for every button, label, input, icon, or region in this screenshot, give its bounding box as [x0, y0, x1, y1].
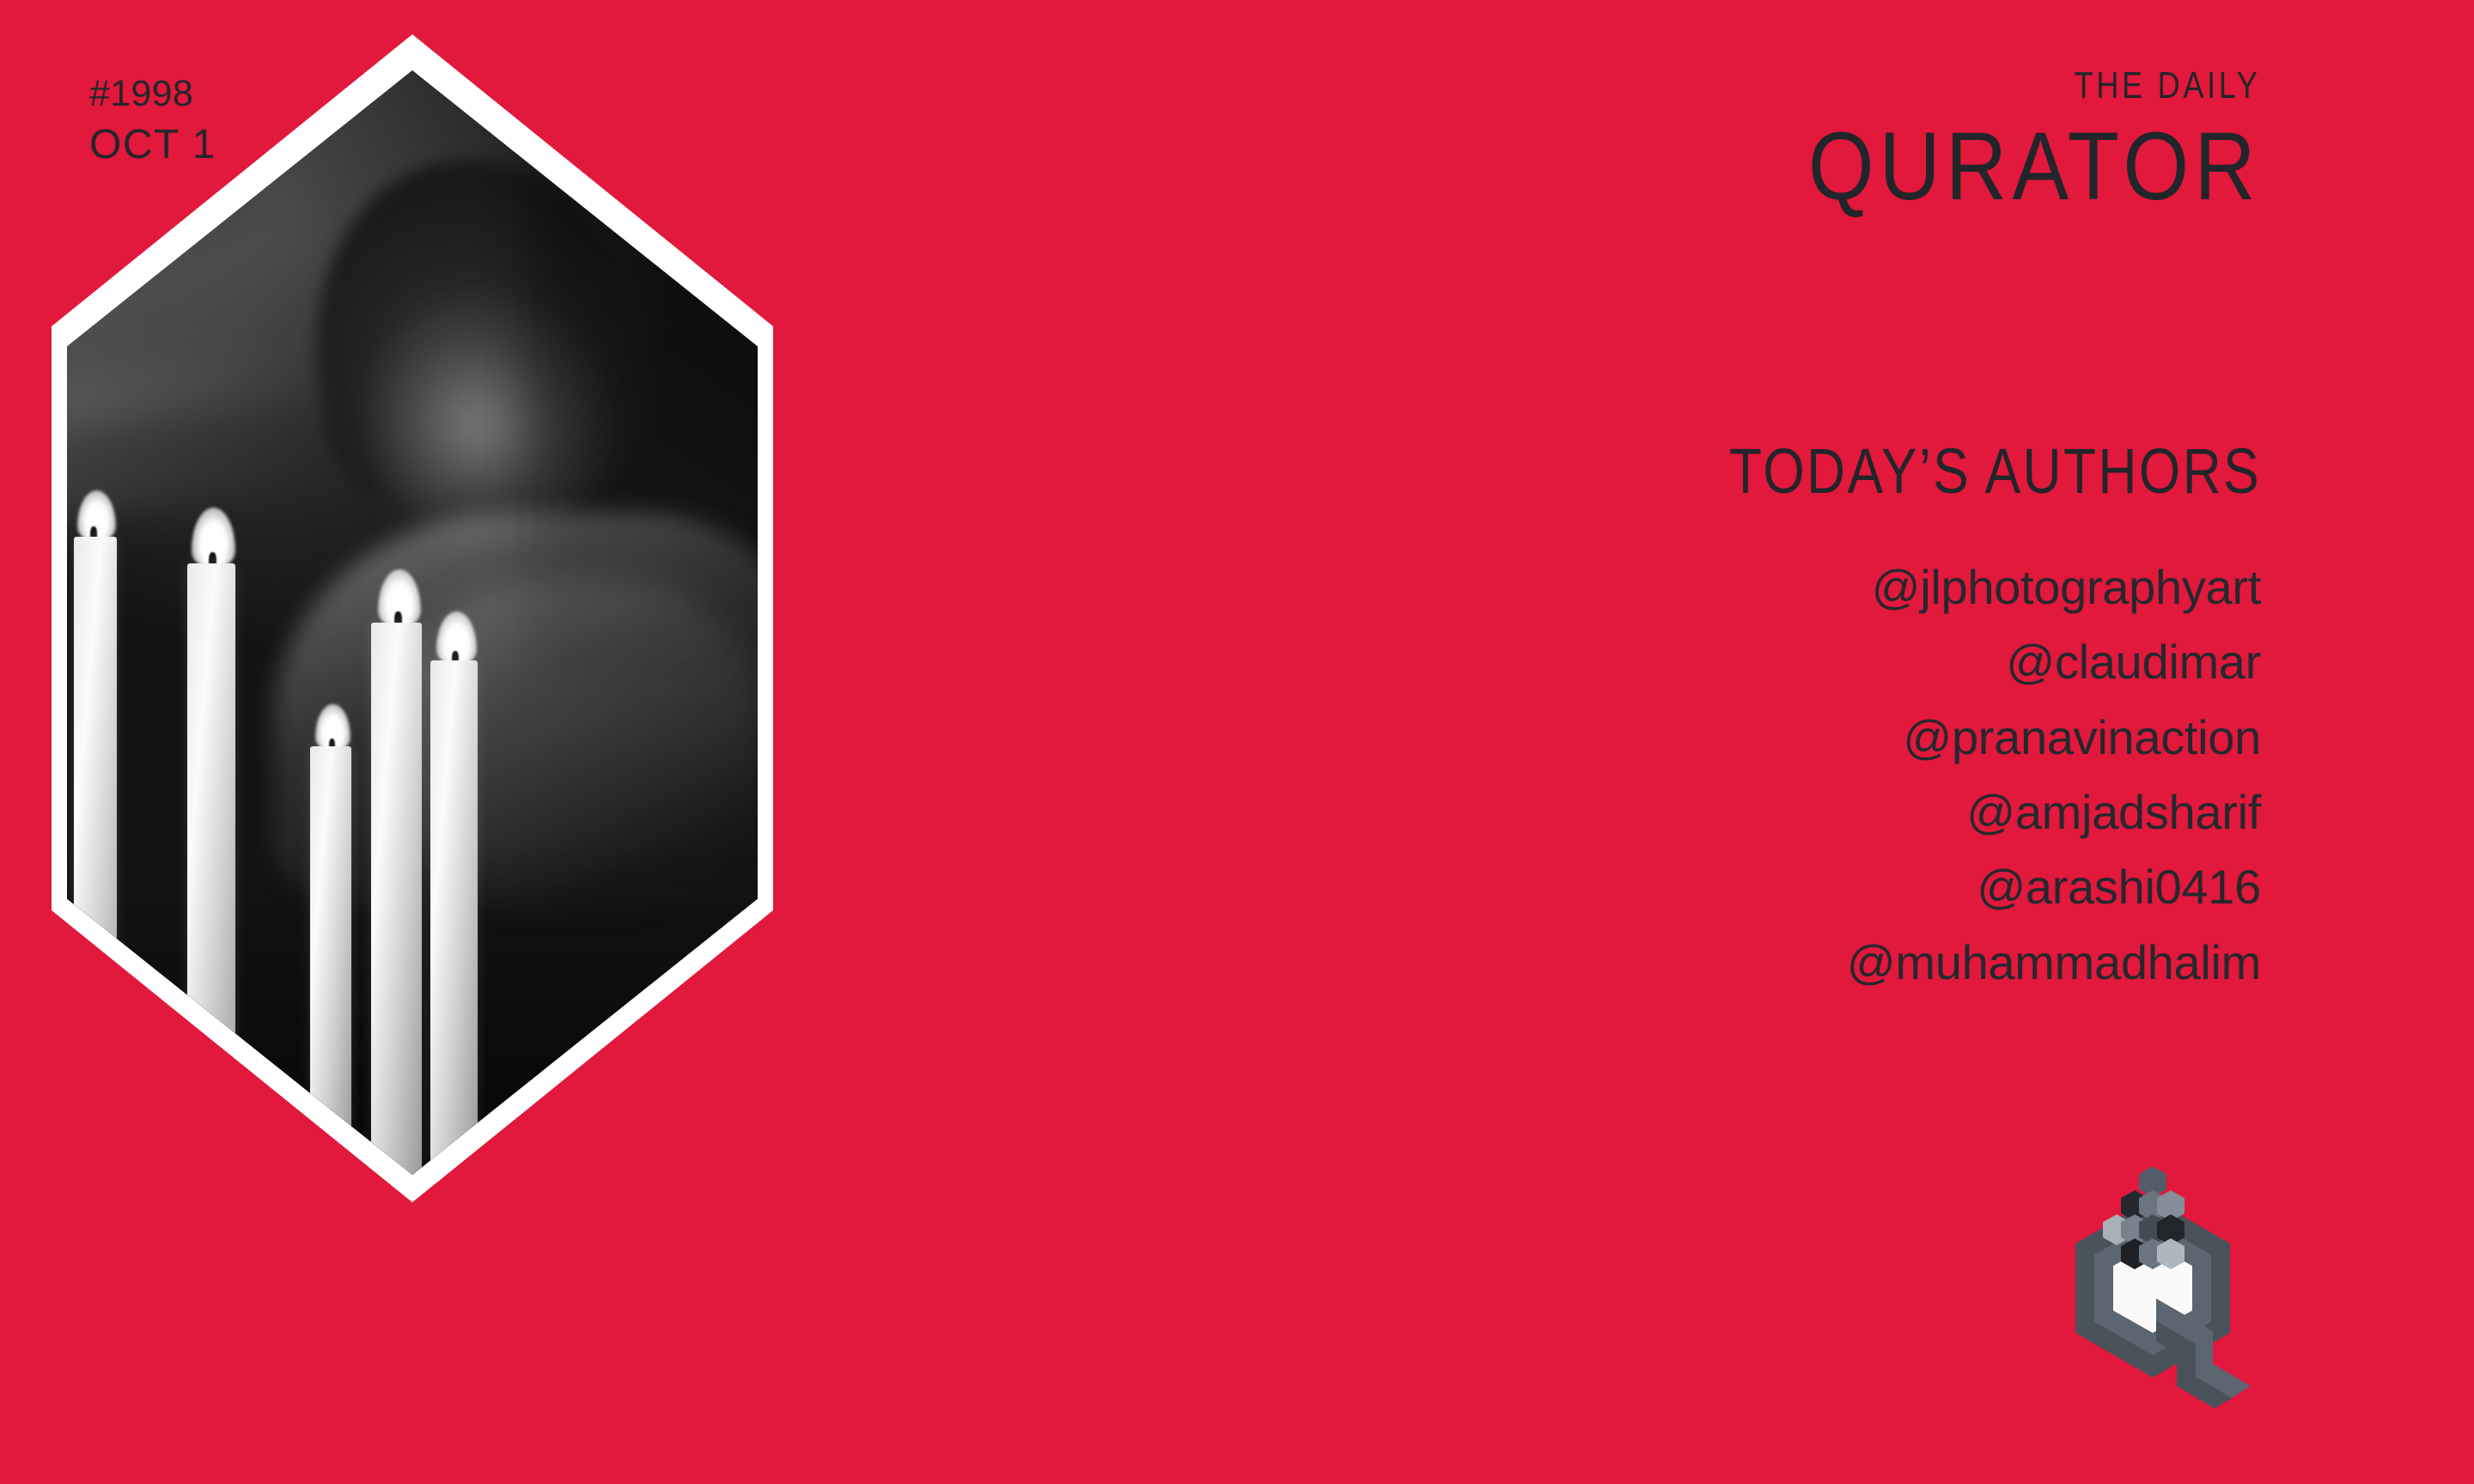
hexagon-photo-frame — [52, 34, 773, 1202]
list-item[interactable]: @pranavinaction — [1316, 700, 2261, 775]
candle-body-3 — [371, 623, 422, 1175]
authors-heading: TODAY’S AUTHORS — [1729, 440, 2261, 503]
candle-body-2 — [187, 563, 235, 1175]
masthead: THE DAILY QURATOR — [1746, 67, 2261, 223]
list-item[interactable]: @amjadsharif — [1316, 775, 2261, 849]
masthead-kicker: THE DAILY — [1839, 67, 2261, 105]
list-item[interactable]: @arashi0416 — [1316, 849, 2261, 924]
qurator-logo-icon — [2060, 1161, 2275, 1436]
authors-list: @jlphotographyart @claudimar @pranavinac… — [1316, 550, 2261, 1000]
candle-body-4 — [430, 660, 478, 1169]
list-item[interactable]: @muhammadhalim — [1316, 925, 2261, 1000]
list-item[interactable]: @jlphotographyart — [1316, 550, 2261, 624]
qurator-logo — [2060, 1161, 2275, 1436]
candle-body-1 — [74, 537, 117, 1175]
page-title: QURATOR — [1808, 110, 2261, 223]
poster-canvas: #1998 OCT 1 — [0, 0, 2474, 1484]
list-item[interactable]: @claudimar — [1316, 624, 2261, 699]
